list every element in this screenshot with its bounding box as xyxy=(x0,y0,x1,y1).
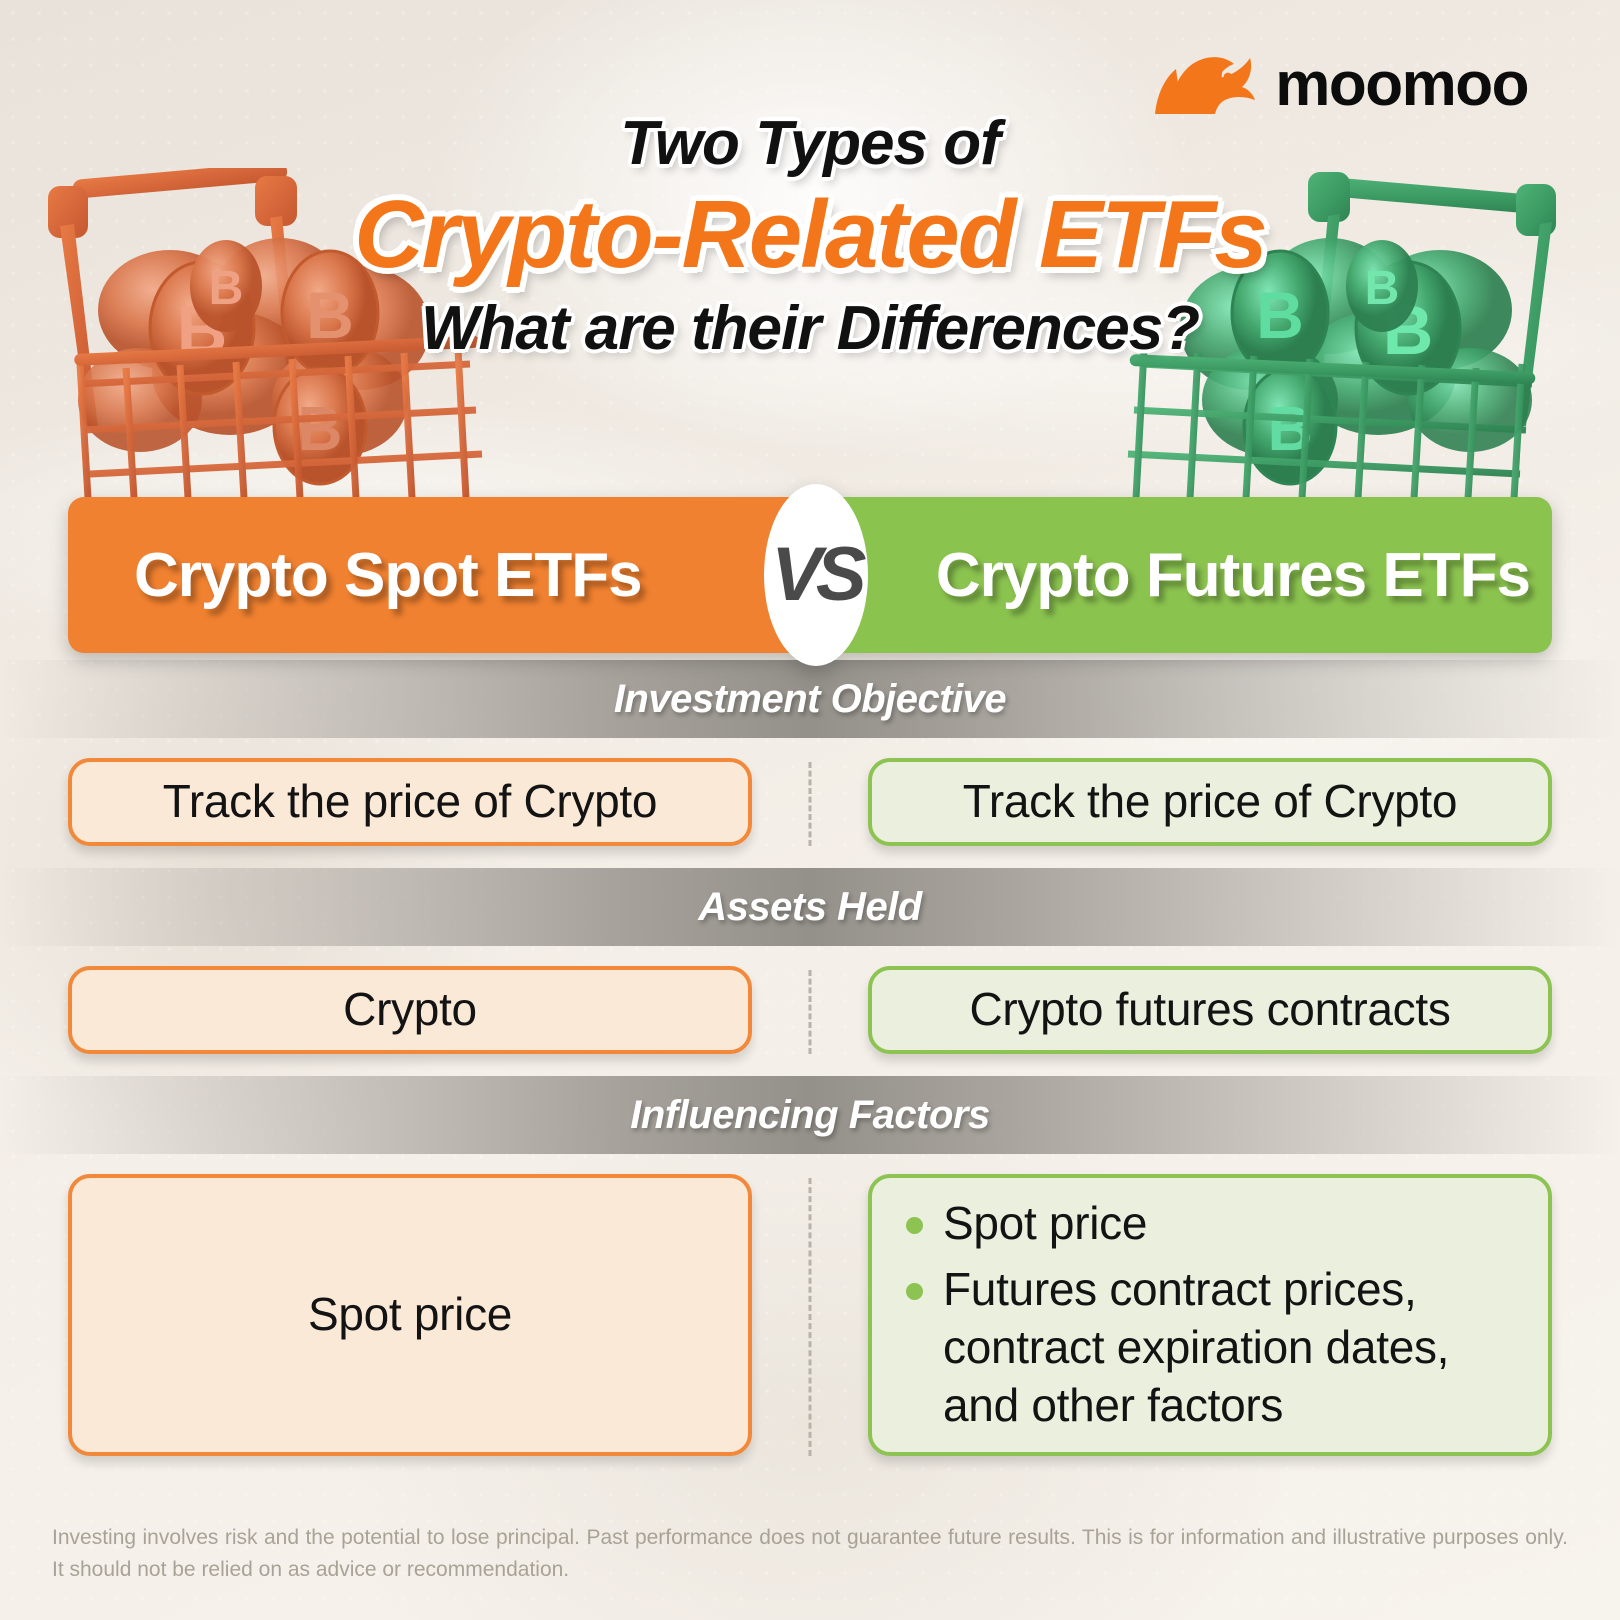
row-right-column: Spot price Futures contract prices, cont… xyxy=(810,1174,1552,1456)
footer: Investing involves risk and the potentia… xyxy=(52,1522,1568,1586)
section-band-investment-objective: Investment Objective xyxy=(0,660,1620,738)
card-text: Track the price of Crypto xyxy=(872,773,1548,830)
list-item: Spot price xyxy=(906,1195,1520,1253)
banner-right-label: Crypto Futures ETFs xyxy=(936,540,1530,611)
versus-label: VS xyxy=(771,537,860,613)
column-divider xyxy=(809,970,812,1054)
logo-wordmark: moomoo xyxy=(1275,54,1528,116)
comparison-body: Investment Objective Track the price of … xyxy=(0,660,1620,1478)
spot-etf-card: Track the price of Crypto xyxy=(68,758,752,846)
title-line-1: Two Types of xyxy=(0,108,1620,179)
header: moomoo Two Types of Crypto-Related ETFs … xyxy=(0,0,1620,480)
card-text: Spot price xyxy=(72,1286,748,1343)
section-heading: Investment Objective xyxy=(614,677,1006,722)
influencing-factors-list: Spot price Futures contract prices, cont… xyxy=(906,1195,1520,1435)
versus-badge: VS xyxy=(764,484,868,666)
bullet-dot-icon xyxy=(906,1217,923,1234)
spot-etf-card: Crypto xyxy=(68,966,752,1054)
versus-banner: Crypto Spot ETFs Crypto Futures ETFs VS xyxy=(68,497,1552,653)
title-line-3: What are their Differences? xyxy=(0,293,1620,364)
card-text: Crypto futures contracts xyxy=(872,981,1548,1038)
section-heading: Influencing Factors xyxy=(630,1093,989,1138)
row-left-column: Spot price xyxy=(68,1174,810,1456)
column-divider xyxy=(809,1178,812,1456)
comparison-row-investment-objective: Track the price of Crypto Track the pric… xyxy=(0,738,1620,868)
row-left-column: Crypto xyxy=(68,966,810,1054)
row-right-column: Track the price of Crypto xyxy=(810,758,1552,846)
comparison-row-assets-held: Crypto Crypto futures contracts xyxy=(0,946,1620,1076)
disclaimer-text: Investing involves risk and the potentia… xyxy=(52,1522,1568,1586)
card-text: Track the price of Crypto xyxy=(72,773,748,830)
banner-left-spot-etfs: Crypto Spot ETFs xyxy=(68,497,816,653)
list-item-label: Spot price xyxy=(943,1195,1147,1253)
futures-etf-card: Track the price of Crypto xyxy=(868,758,1552,846)
spot-etf-card: Spot price xyxy=(68,1174,752,1456)
row-right-column: Crypto futures contracts xyxy=(810,966,1552,1054)
list-item: Futures contract prices, contract expira… xyxy=(906,1261,1520,1435)
comparison-row-influencing-factors: Spot price Spot price Futures contract p… xyxy=(0,1154,1620,1478)
section-band-assets-held: Assets Held xyxy=(0,868,1620,946)
banner-right-futures-etfs: Crypto Futures ETFs xyxy=(816,497,1552,653)
section-heading: Assets Held xyxy=(698,885,921,930)
title-line-2: Crypto-Related ETFs xyxy=(0,183,1620,287)
futures-etf-card: Crypto futures contracts xyxy=(868,966,1552,1054)
title-block: Two Types of Crypto-Related ETFs What ar… xyxy=(0,108,1620,364)
bullet-dot-icon xyxy=(906,1283,923,1300)
futures-etf-card: Spot price Futures contract prices, cont… xyxy=(868,1174,1552,1456)
banner-left-label: Crypto Spot ETFs xyxy=(134,540,642,611)
list-item-label: Futures contract prices, contract expira… xyxy=(943,1261,1520,1435)
column-divider xyxy=(809,762,812,846)
row-left-column: Track the price of Crypto xyxy=(68,758,810,846)
section-band-influencing-factors: Influencing Factors xyxy=(0,1076,1620,1154)
card-text: Crypto xyxy=(72,981,748,1038)
